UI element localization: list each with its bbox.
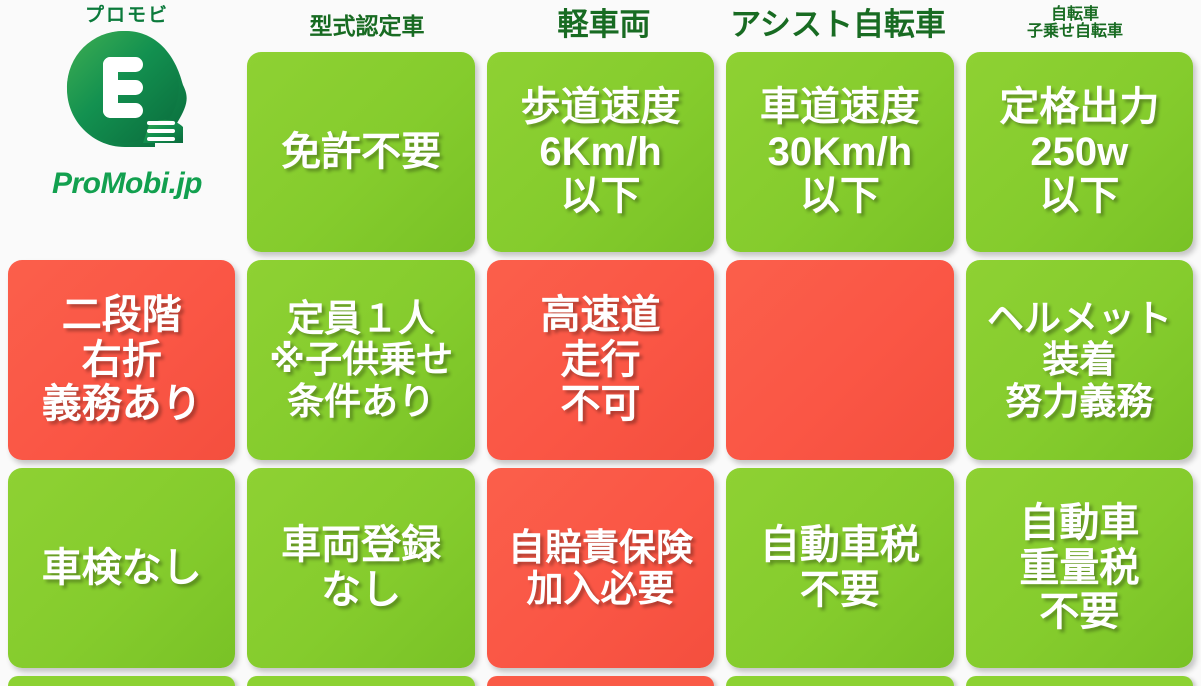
cell-label: 車道速度 30Km/h 以下 [760, 85, 920, 219]
cell-label: 免許不要 [281, 130, 441, 175]
grid-row: 二段階 右折 義務あり 定員１人 ※子供乗せ 条件あり 高速道 走行 不可 ヘル… [8, 260, 1193, 460]
grid-cell[interactable]: 歩道速度 6Km/h 以下 [487, 52, 714, 252]
column-header-jitensha-konose: 自転車 子乗せ自転車 [962, 6, 1188, 41]
grid-cell[interactable]: 車道速度 30Km/h 以下 [726, 52, 953, 252]
column-header-kata-shiki-nintei-sha: 型式認定車 [254, 14, 480, 39]
grid-cell[interactable]: 自動車 重量税 不要 [966, 468, 1193, 668]
cell-label: 歩道速度 6Km/h 以下 [521, 85, 681, 219]
grid-cell[interactable]: 車両登録 なし [247, 468, 474, 668]
grid-cell[interactable]: 高速道 走行 不可 [487, 260, 714, 460]
cell-label: 高速道 走行 不可 [541, 293, 661, 427]
cell-label: 定格出力 250w 以下 [999, 85, 1159, 219]
cell-label: 自動車 重量税 不要 [1019, 501, 1139, 635]
cell-label: 車検なし [42, 546, 202, 591]
grid-cell-partial[interactable] [487, 676, 714, 686]
cell-label: 二段階 右折 義務あり [42, 293, 202, 427]
grid-cell-partial[interactable] [247, 676, 474, 686]
column-header-assist-jitensha: アシスト自転車 [725, 8, 951, 41]
grid-row-partial [8, 676, 1193, 686]
column-header-kei-sharyou: 軽車両 [492, 8, 716, 41]
grid-cell-partial[interactable] [726, 676, 953, 686]
grid-cell[interactable]: 定格出力 250w 以下 [966, 52, 1193, 252]
spec-grid: 免許不要 歩道速度 6Km/h 以下 車道速度 30Km/h 以下 定格出力 2… [8, 52, 1193, 686]
grid-cell[interactable]: 自動車税 不要 [726, 468, 953, 668]
grid-cell-empty[interactable] [726, 260, 953, 460]
grid-cell-partial[interactable] [8, 676, 235, 686]
grid-row: 免許不要 歩道速度 6Km/h 以下 車道速度 30Km/h 以下 定格出力 2… [8, 52, 1193, 252]
grid-row: 車検なし 車両登録 なし 自賠責保険 加入必要 自動車税 不要 自動車 重量税 … [8, 468, 1193, 668]
cell-label: 自賠責保険 加入必要 [508, 527, 693, 610]
logo-kana-text: プロモビ [85, 6, 169, 25]
grid-cell[interactable]: 定員１人 ※子供乗せ 条件あり [247, 260, 474, 460]
grid-cell[interactable]: ヘルメット 装着 努力義務 [966, 260, 1193, 460]
grid-cell[interactable]: 自賠責保険 加入必要 [487, 468, 714, 668]
comparison-chart-page: プロモビ [0, 0, 1201, 677]
grid-cell-partial[interactable] [966, 676, 1193, 686]
grid-cell[interactable]: 二段階 右折 義務あり [8, 260, 235, 460]
cell-label: 車両登録 なし [281, 523, 441, 613]
cell-label: 自動車税 不要 [760, 523, 920, 613]
cell-label: 定員１人 ※子供乗せ 条件あり [269, 298, 453, 422]
grid-cell[interactable]: 免許不要 [247, 52, 474, 252]
grid-cell-logo-placeholder [8, 52, 235, 252]
grid-cell[interactable]: 車検なし [8, 468, 235, 668]
cell-label: ヘルメット 装着 努力義務 [987, 298, 1172, 422]
